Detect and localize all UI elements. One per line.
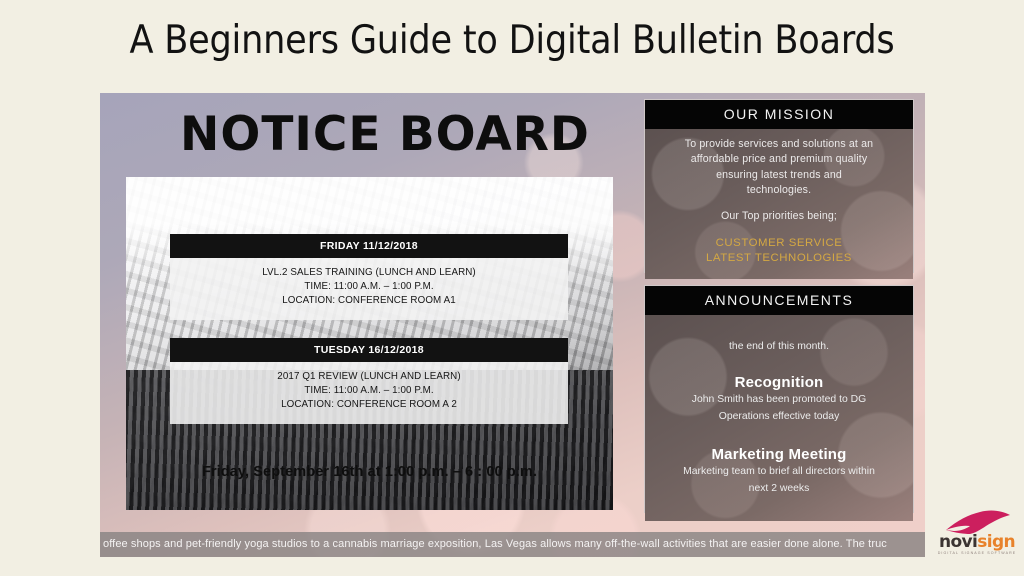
mission-priorities-intro: Our Top priorities being; xyxy=(645,209,913,224)
mission-panel: OUR MISSION To provide services and solu… xyxy=(644,99,914,273)
announcement-item[interactable]: Recognition John Smith has been promoted… xyxy=(645,374,913,424)
mission-priority-item: LATEST TECHNOLOGIES xyxy=(645,251,913,266)
notice-board-heading: NOTICE BOARD xyxy=(100,107,670,162)
announcement-body-line: John Smith has been promoted to DG xyxy=(645,393,913,408)
event-details: 2017 Q1 REVIEW (LUNCH AND LEARN) TIME: 1… xyxy=(170,362,568,424)
announcement-title: Marketing Meeting xyxy=(645,446,913,463)
spacer xyxy=(645,225,913,236)
announcements-panel: ANNOUNCEMENTS the end of this month. Rec… xyxy=(644,285,914,513)
announcement-intro: the end of this month. xyxy=(645,341,913,352)
event-card[interactable]: FRIDAY 11/12/2018 LVL.2 SALES TRAINING (… xyxy=(170,234,568,320)
announcement-body-line: Operations effective today xyxy=(645,410,913,425)
event-location: LOCATION: CONFERENCE ROOM A 2 xyxy=(170,398,568,412)
event-date: FRIDAY 11/12/2018 xyxy=(170,234,568,258)
announcement-body-line: next 2 weeks xyxy=(645,482,913,497)
logo-word-sign: sign xyxy=(977,532,1015,552)
notice-board-panel: FRIDAY 11/12/2018 LVL.2 SALES TRAINING (… xyxy=(126,177,613,510)
mission-text-line: technologies. xyxy=(645,183,913,198)
logo-tagline: DIGITAL SIGNAGE SOFTWARE xyxy=(936,551,1018,555)
event-title: LVL.2 SALES TRAINING (LUNCH AND LEARN) xyxy=(170,266,568,280)
novisign-wordmark: novisign xyxy=(936,534,1018,551)
digital-sign-preview: NOTICE BOARD FRIDAY 11/12/2018 LVL.2 SAL… xyxy=(100,93,925,557)
mission-text-line: ensuring latest trends and xyxy=(645,168,913,183)
news-ticker: offee shops and pet-friendly yoga studio… xyxy=(100,532,925,557)
announcement-body-line: Marketing team to brief all directors wi… xyxy=(645,465,913,480)
mission-text-line: To provide services and solutions at an xyxy=(645,137,913,152)
mission-priority-item: CUSTOMER SERVICE xyxy=(645,236,913,251)
notice-board-footer: Friday, September 16th at 1:00 p.m. – 6 … xyxy=(126,464,613,480)
announcements-panel-body: the end of this month. Recognition John … xyxy=(645,315,913,521)
mission-text-line: affordable price and premium quality xyxy=(645,152,913,167)
news-ticker-text: offee shops and pet-friendly yoga studio… xyxy=(100,532,925,557)
announcement-item[interactable]: Marketing Meeting Marketing team to brie… xyxy=(645,446,913,496)
announcements-panel-header: ANNOUNCEMENTS xyxy=(645,286,913,315)
mission-panel-body: To provide services and solutions at an … xyxy=(645,129,913,279)
event-date: TUESDAY 16/12/2018 xyxy=(170,338,568,362)
event-time: TIME: 11:00 A.M. – 1:00 P.M. xyxy=(170,384,568,398)
announcement-title: Recognition xyxy=(645,374,913,391)
spacer xyxy=(645,198,913,209)
mission-panel-header: OUR MISSION xyxy=(645,100,913,129)
novisign-logo[interactable]: novisign DIGITAL SIGNAGE SOFTWARE xyxy=(936,508,1018,558)
page-title: A Beginners Guide to Digital Bulletin Bo… xyxy=(0,18,1024,63)
event-card[interactable]: TUESDAY 16/12/2018 2017 Q1 REVIEW (LUNCH… xyxy=(170,338,568,424)
event-details: LVL.2 SALES TRAINING (LUNCH AND LEARN) T… xyxy=(170,258,568,320)
event-time: TIME: 11:00 A.M. – 1:00 P.M. xyxy=(170,280,568,294)
event-location: LOCATION: CONFERENCE ROOM A1 xyxy=(170,294,568,308)
logo-word-novi: novi xyxy=(939,532,977,552)
event-title: 2017 Q1 REVIEW (LUNCH AND LEARN) xyxy=(170,370,568,384)
